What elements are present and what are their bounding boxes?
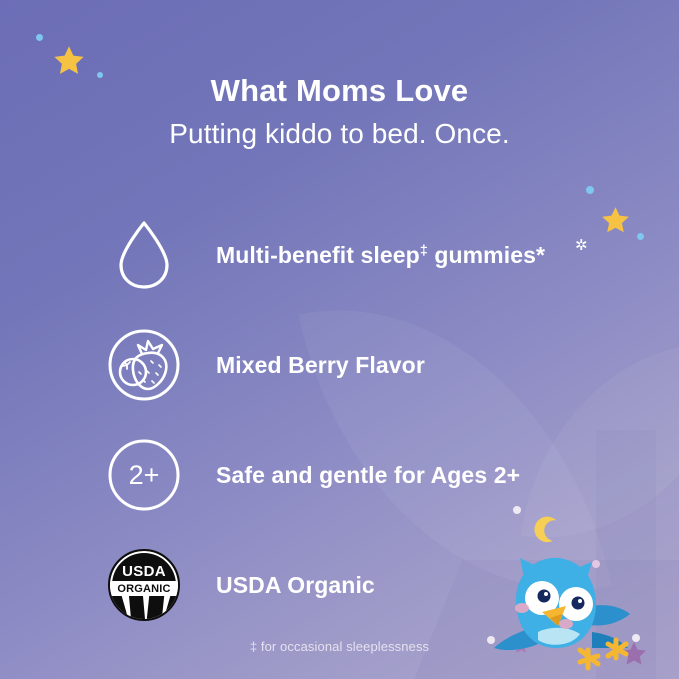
usda-organic-seal-icon: USDA ORGANIC <box>104 545 184 625</box>
usda-top-text: USDA <box>122 563 166 580</box>
feature-row-usda-organic: USDA ORGANIC USDA Organic <box>0 530 679 640</box>
usda-field-lines <box>110 596 178 619</box>
feature-row-sleep-gummies: Multi-benefit sleep‡ gummies* <box>0 200 679 310</box>
product-infographic: ✲ <box>0 0 679 679</box>
feature-label: Safe and gentle for Ages 2+ <box>216 462 520 489</box>
feature-label: USDA Organic <box>216 572 375 599</box>
dot-blue-small <box>586 186 594 194</box>
age-badge-text: 2+ <box>129 460 160 491</box>
footnote: ‡ for occasional sleeplessness <box>0 639 679 654</box>
dot-blue-small <box>36 34 43 41</box>
page-subtitle: Putting kiddo to bed. Once. <box>0 116 679 151</box>
age-two-plus-icon: 2+ <box>104 435 184 515</box>
page-title: What Moms Love <box>0 72 679 111</box>
feature-row-age-two-plus: 2+ Safe and gentle for Ages 2+ <box>0 420 679 530</box>
mixed-berry-icon <box>104 325 184 405</box>
feature-list: Multi-benefit sleep‡ gummies* <box>0 200 679 640</box>
feature-label: Mixed Berry Flavor <box>216 352 425 379</box>
droplet-icon <box>104 215 184 295</box>
usda-band-text: ORGANIC <box>117 583 170 595</box>
feature-row-mixed-berry: Mixed Berry Flavor <box>0 310 679 420</box>
header-block: What Moms Love Putting kiddo to bed. Onc… <box>0 72 679 151</box>
feature-label: Multi-benefit sleep‡ gummies* <box>216 242 545 269</box>
